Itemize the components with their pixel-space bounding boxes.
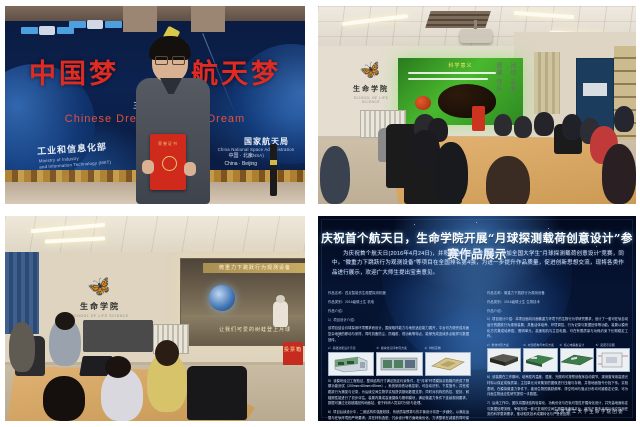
left-thumbnail-row: 2）基础功能设计示意 [328,346,469,375]
award-banner-scene: 中国梦 航天梦 主题活动 Chinese Dream · Space Dream… [5,6,305,204]
right-meta-0: 作品名称：微重力下跳跃行为观测设备 [487,290,628,296]
ladybug-image [415,96,431,110]
bird-icon: 🦋 [359,60,384,82]
left-body-3: 6）项目后续设计中，二维结构件强度校核、系统质量预算与热平衡设计将进一步细化，以… [328,410,469,421]
device-image-assembly-diagram [596,348,630,372]
thumbnail-label: 2）基础功能设计示意 [328,346,372,350]
slide-title: 微重力下跳跃行为观测设备 [203,263,305,273]
attendee [434,142,468,204]
left-meta-1: 作品类别：2016级硕士生 机电 [328,299,469,305]
attendee-head [55,312,75,330]
projector [460,29,492,43]
certificate-text: 荣誉证书 [150,141,186,147]
stanchion-post [270,144,277,196]
attendee [494,114,512,136]
thumbnail-label: 4）核心电路板设计 [560,343,592,347]
poster-lead-paragraph: 为庆祝首个航天日(2016年4月24日)，并积极结合毕业季活动，参加全国大学生“… [332,250,624,278]
device-image-pcb-board [425,352,471,376]
poster-canvas: 庆祝首个航天日，生命学院开展“月球探测载荷创意设计”参赛作品展示 为庆祝首个航天… [318,216,636,421]
electronics-module-icon [332,355,370,373]
slide-bullet [408,78,488,80]
window-curtain [534,52,560,114]
device-thumbnail: 2）整体外形方案 [487,343,519,372]
device-thumbnail: 4）样机实物 [425,346,469,375]
attendee [562,114,582,140]
wall-slogan-2: 团结 友爱 [508,62,517,93]
attendee [602,144,636,204]
slide-title: 科学意义 [398,62,523,69]
left-body-2: 5）该模块经过工程验证，整体结构尺寸满足指定约束条件，在“月球”环境模拟实验箱内… [328,379,469,407]
attendee [43,376,85,421]
photo-award-banner: 中国梦 航天梦 主题活动 Chinese Dream · Space Dream… [5,6,305,204]
star-dot [414,224,415,225]
wall-column [123,6,157,32]
module-layout-icon [379,355,419,373]
seminar-room-scene: 科学意义 🦋 生命学院 SCHOOL OF LIFE SCIENCE 健康 快乐… [318,6,636,204]
attendee [9,322,35,372]
banner-title-left: 中国梦 [29,52,119,91]
right-meta-2: 作品介绍： [487,308,628,314]
poster-left-column: 作品名称：四足智能仿生爬壁探测机器 作品类别：2016级硕士生 机电 作品介绍：… [328,290,469,410]
device-image-electronics-module [376,352,422,376]
device-thumbnail: 4）核心电路板设计 [560,343,592,372]
glasses-icon [155,56,185,63]
device-image-green-pcb [560,348,594,372]
ballot-box-text: 投票箱 [283,342,303,354]
wall-logo: 🦋 生命学院 SCHOOL OF LIFE SCIENCE [345,62,397,102]
air-vent [425,11,491,28]
poster-footer: 北京理工大学生命学院团委 [555,409,625,415]
wall-slogan-1: 健康 快乐 [494,62,503,93]
device-image-electronics-module [328,352,374,376]
attendee [514,116,532,138]
door-sign [583,83,607,96]
banner-place: 中国 · 北京 China · Beijing [224,152,257,168]
fire-extinguisher [472,106,485,131]
black-box-icon [487,351,521,369]
insect-image [438,84,496,118]
slide-title-bar: 微重力下跳跃行为观测设备 [203,263,305,273]
projection-screen: 微重力下跳跃行为观测设备 让我们可爱的树蛙登上月球 [180,258,305,346]
right-body-1: 1）项目设计介绍：本项目面向月面微重力环境下的生物行为学研究需求，设计了一套可在… [487,317,628,340]
wall-logo-sub: SCHOOL OF LIFE SCIENCE [71,314,129,318]
thumbnail-label: 5）装配示意图 [596,343,628,347]
attendee [534,112,554,136]
thumbnail-label: 3）内部结构与布局方案 [523,343,555,347]
device-image-green-module [523,348,557,372]
assembly-diagram-icon [596,351,630,369]
right-meta-1: 作品类别：2016级硕士生 生物技术 [487,299,628,305]
attendee [486,156,530,204]
star-dot [548,228,549,229]
attendee [614,106,634,132]
thumbnail-label: 3）模块化空间布局方案 [376,346,420,350]
green-module-icon [523,351,557,369]
photo-lunar-slide-discussion: 🦋 生命学院 SCHOOL OF LIFE SCIENCE 微重力下跳跃行为观测… [5,216,305,421]
person-hand [142,160,154,174]
astronaut-image [273,301,288,327]
device-thumbnail: 3）模块化空间布局方案 [376,346,420,375]
wall-logo-sub: SCHOOL OF LIFE SCIENCE [345,96,397,104]
chair [187,366,247,420]
left-body-1: 该项目结合月球探测环境需求而设计，围绕取样能力与地形适应能力展开，平台可方便完成… [328,326,469,343]
poster-right-column: 作品名称：微重力下跳跃行为观测设备 作品类别：2016级硕士生 生物技术 作品介… [487,290,628,410]
slide-bullet [408,72,496,74]
side-desk [83,320,153,352]
star-dot [476,222,477,223]
attendee [320,146,350,204]
discussion-room-scene: 🦋 生命学院 SCHOOL OF LIFE SCIENCE 微重力下跳跃行为观测… [5,216,305,421]
thumbnail-label: 2）整体外形方案 [487,343,519,347]
slide-caption: 让我们可爱的树蛙登上月球 [181,326,305,333]
person-award-recipient: 荣誉证书 [136,40,210,204]
device-thumbnail: 3）内部结构与布局方案 [523,343,555,372]
left-meta-3: 1）项目设计介绍： [328,317,469,323]
wall-column [191,6,225,32]
poster-columns: 作品名称：四足智能仿生爬壁探测机器 作品类别：2016级硕士生 机电 作品介绍：… [328,290,628,410]
left-meta-0: 作品名称：四足智能仿生爬壁探测机器 [328,290,469,296]
device-thumbnail: 5）装配示意图 [596,343,628,372]
right-body-2: 6）该装置在工作期间，培养腔内温度、湿度、光照均可按预设程序自动调节，观测窗采用… [487,375,628,398]
attendee-head [155,340,179,366]
bird-icon: 🦋 [86,275,114,299]
exhibition-poster: 庆祝首个航天日，生命学院开展“月球探测载荷创意设计”参赛作品展示 为庆祝首个航天… [318,216,636,421]
thumbnail-label: 4）样机实物 [425,346,469,350]
right-thumbnail-row: 2）整体外形方案 3）内部结构与布局方案 [487,343,628,372]
attendee-head [105,356,131,378]
photo-collage: 中国梦 航天梦 主题活动 Chinese Dream · Space Dream… [0,0,640,427]
wall-logo-name: 生命学院 [345,84,397,94]
wall-logo: 🦋 生命学院 SCHOOL OF LIFE SCIENCE [71,278,129,322]
earth-from-moon-image [209,285,235,311]
certificate-seal [162,156,177,171]
left-meta-2: 作品介绍： [328,308,469,314]
green-pcb-icon [560,352,594,368]
device-thumbnail: 2）基础功能设计示意 [328,346,372,375]
org-cnsa-cn: 国家航天局 [244,136,289,147]
photo-seminar-green-slide: 科学意义 🦋 生命学院 SCHOOL OF LIFE SCIENCE 健康 快乐… [318,6,636,204]
wall-logo-name: 生命学院 [71,301,129,312]
award-certificate: 荣誉证书 [150,134,186,190]
person-hand [184,162,196,176]
device-image-black-box [487,348,521,372]
ceiling-grid [5,216,305,256]
pcb-board-icon [430,355,466,373]
